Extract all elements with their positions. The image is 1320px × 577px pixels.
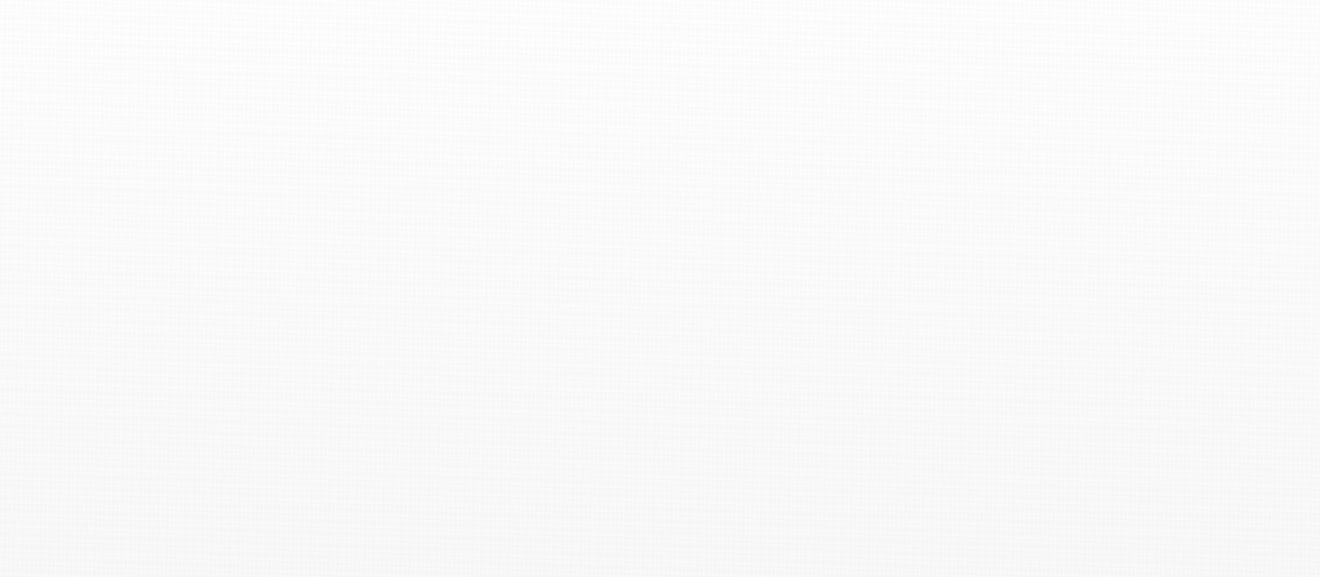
swiss-cross-icon <box>743 9 770 38</box>
sdc-agency-line2: and Cooperation SDC <box>779 74 914 85</box>
mekong-glyphs-icon <box>948 16 1136 56</box>
sdc-line-rm: Confederaziun svizra <box>779 43 914 55</box>
venue-name-row: Institut Francais du Laos | ສະຖາບັນຝຣັ່ງ <box>841 495 1218 543</box>
asef-mark-icon <box>195 13 239 57</box>
sdc-line-fr: Confédération suisse <box>779 19 914 31</box>
event-poster: ການສະແດງສົດ Live performance! ຟ້ອນຂ້າມຂົ… <box>0 0 1320 577</box>
venue-name: Institut Francais du Laos | ສະຖາບັນຝຣັ່ງ <box>870 495 1218 543</box>
aecf-wordmark: ASIA-EUROPE CULTURAL FESTIVAL <box>347 17 502 76</box>
logo-divider <box>264 20 265 72</box>
sponsor-logo-strip: ASIA-EUROPE FOUNDATION ASIA-EUROPE CULTU… <box>0 0 1320 92</box>
bb-word-bridges: BRIDGES <box>52 523 184 546</box>
sdc-text-block: Schweizerische Eidgenossenschaft Confédé… <box>779 7 914 86</box>
asef-name-line1: ASIA-EUROPE <box>184 60 250 70</box>
qr-code[interactable] <box>1246 496 1320 570</box>
sdc-line-de: Schweizerische Eidgenossenschaft <box>779 7 914 19</box>
sdc-agency-line1: Swiss Agency for Development <box>779 63 914 74</box>
dancer-photo <box>0 88 370 328</box>
if-line2: FRANÇAIS <box>547 43 626 57</box>
if-motto-3: Diversité <box>648 54 710 70</box>
venue-info: Institut Francais du Laos | ສະຖາບັນຝຣັ່ງ… <box>841 495 1218 570</box>
logo-asia-europe-group: ASIA-EUROPE FOUNDATION ASIA-EUROPE CULTU… <box>184 13 502 80</box>
location-pin-icon <box>841 505 863 533</box>
aecf-line3: FESTIVAL <box>347 56 502 76</box>
aecf-pattern-icon <box>279 17 335 75</box>
asia-europe-foundation-logo: ASIA-EUROPE FOUNDATION <box>184 13 250 80</box>
program-english: Poetry - Film - Dance <box>208 534 441 577</box>
free-of-charge-ribbon: FREE OF CHARGE! <box>497 508 797 558</box>
swiss-sdc-logo: Schweizerische Eidgenossenschaft Confédé… <box>743 7 914 86</box>
venue-datetime: Wednesday, 15th October Start at 7:30pm <box>841 547 1218 570</box>
institut-francais-logo: INSTITUT FRANÇAIS LAOS Liberté Créativit… <box>536 19 710 73</box>
program-lao: ບົດກະວີ - ຮູບເງົາ - ຟ້ອນ <box>208 469 441 532</box>
footer-bar: BUILDING BRIDGES A Meeting Point on Art … <box>0 488 1320 577</box>
mekong-letterforms-icon <box>948 16 1136 56</box>
bb-tagline-1: A Meeting Point on Art & Social Action i… <box>52 549 184 557</box>
building-bridges-wordmark: BUILDING BRIDGES A Meeting Point on Art … <box>52 500 184 565</box>
if-motto-1: Liberté <box>648 21 710 37</box>
bb-ridges: RIDGES <box>70 520 172 549</box>
mekong-cultural-hub-logo: MEKONG CULTURAL HUB <box>948 16 1136 76</box>
ribbon-shape: FREE OF CHARGE! <box>497 508 797 558</box>
program-disciplines: ບົດກະວີ - ຮູບເງົາ - ຟ້ອນ Poetry - Film -… <box>208 469 441 577</box>
building-bridges-logo: BUILDING BRIDGES A Meeting Point on Art … <box>14 500 184 565</box>
mekong-title: MEKONG CULTURAL HUB <box>954 61 1129 76</box>
ribbon-label: FREE OF CHARGE! <box>542 521 753 545</box>
institut-francais-motto: Liberté Créativité Diversité <box>648 21 710 70</box>
hero-artwork <box>0 88 1320 488</box>
if-country: LAOS <box>547 60 563 66</box>
asef-name-line2: FOUNDATION <box>192 73 241 80</box>
bb-tagline-2: October 16th - 18th 2025, Vientiane <box>52 557 184 565</box>
building-bridges-tagline: A Meeting Point on Art & Social Action i… <box>52 549 184 565</box>
qr-code-image[interactable] <box>1249 499 1317 567</box>
building-bridges-mark-icon <box>14 509 50 557</box>
if-motto-2: Créativité <box>648 38 710 54</box>
institut-francais-box: INSTITUT FRANÇAIS LAOS <box>536 19 637 73</box>
asia-europe-cultural-festival-logo: ASIA-EUROPE CULTURAL FESTIVAL <box>279 17 502 76</box>
bb-b2: B <box>52 520 71 549</box>
sdc-line-it: Confederazione Svizzera <box>779 31 914 43</box>
